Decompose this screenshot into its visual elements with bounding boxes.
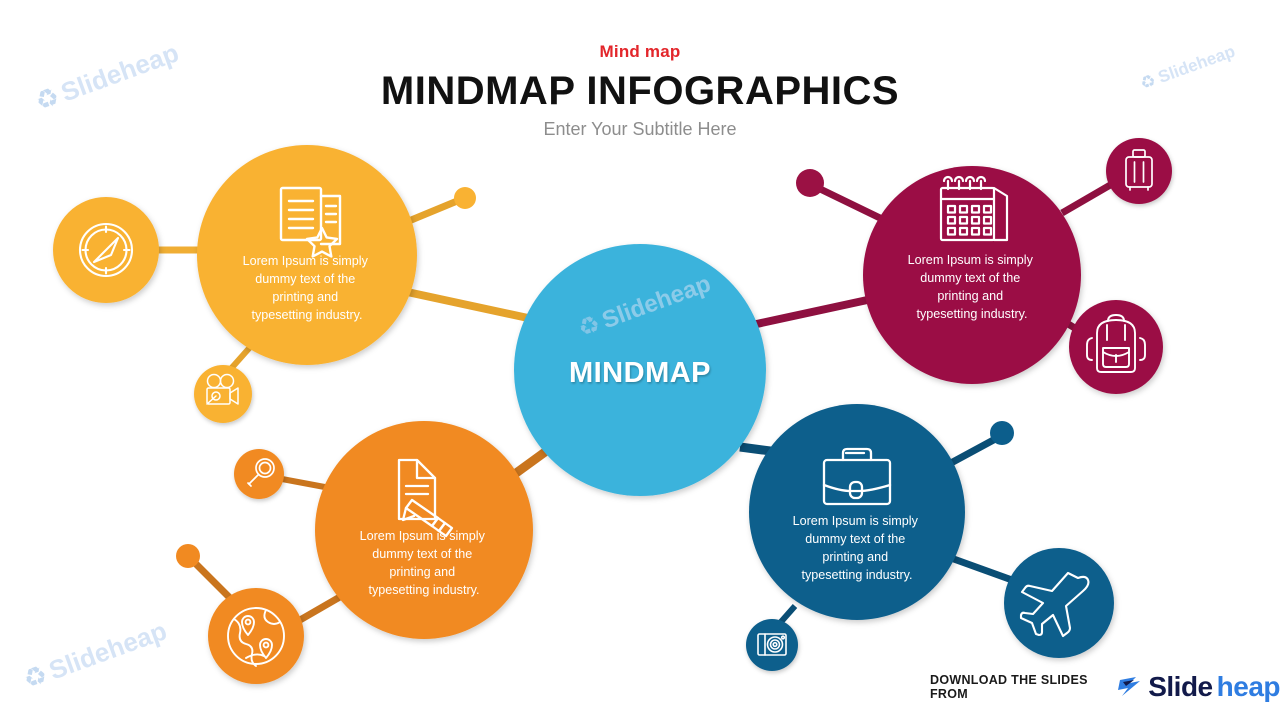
satellite-photo-camera-circle[interactable]: [746, 619, 798, 671]
slideheap-logo-icon: [1114, 672, 1144, 702]
connector-center-maroon: [752, 299, 872, 325]
connector-darkblue-photo-camera: [780, 606, 795, 623]
connector-darkblue-airplane: [951, 558, 1012, 580]
connector-center-orange: [512, 452, 545, 476]
brand-name-second: heap: [1217, 673, 1280, 701]
connector-orange-magnifier: [282, 479, 330, 488]
connector-maroon-luggage: [1062, 184, 1112, 213]
connector-center-yellow: [398, 290, 528, 318]
connector-orange-globe: [300, 594, 345, 620]
compass-icon: [80, 224, 132, 276]
satellite-backpack[interactable]: [1069, 300, 1163, 394]
satellite-movie-camera[interactable]: [194, 365, 252, 423]
center-node[interactable]: MINDMAP: [514, 244, 766, 496]
slide-canvas: Mind map MINDMAP INFOGRAPHICS Enter Your…: [0, 0, 1280, 720]
satellite-photo-camera[interactable]: [746, 619, 798, 671]
slideheap-brand[interactable]: Slideheap: [1114, 672, 1280, 702]
dot-maroon: [796, 169, 824, 197]
dot-orange: [176, 544, 200, 568]
connector-maroon-dot: [814, 186, 880, 218]
branch-yellow[interactable]: Lorem Ipsum is simply dummy text of the …: [197, 145, 417, 365]
branch-orange[interactable]: Lorem Ipsum is simply dummy text of the …: [315, 421, 533, 639]
center-node-label: MINDMAP: [569, 357, 711, 389]
dot-yellow: [454, 187, 476, 209]
satellite-luggage-circle[interactable]: [1106, 138, 1172, 204]
brand-name-first: Slide: [1148, 673, 1212, 701]
footer-cta-text: DOWNLOAD THE SLIDES FROM: [930, 673, 1102, 701]
satellite-airplane-circle[interactable]: [1004, 548, 1114, 658]
satellite-compass[interactable]: [53, 197, 159, 303]
branch-maroon[interactable]: Lorem Ipsum is simply dummy text of the …: [863, 166, 1081, 384]
footer: DOWNLOAD THE SLIDES FROM Slideheap: [930, 672, 1280, 702]
satellite-globe[interactable]: [208, 588, 304, 684]
satellite-movie-camera-circle[interactable]: [194, 365, 252, 423]
satellite-globe-circle[interactable]: [208, 588, 304, 684]
mindmap-diagram: Lorem Ipsum is simply dummy text of the …: [0, 0, 1280, 720]
connector-orange-dot: [191, 559, 232, 600]
satellite-luggage[interactable]: [1106, 138, 1172, 204]
satellite-magnifier[interactable]: [234, 449, 284, 499]
connector-yellow-dot: [404, 199, 462, 223]
satellite-airplane[interactable]: [1004, 548, 1114, 658]
dot-darkblue: [990, 421, 1014, 445]
branch-darkblue-circle[interactable]: [749, 404, 965, 620]
branch-darkblue[interactable]: Lorem Ipsum is simply dummy text of the …: [749, 404, 965, 620]
